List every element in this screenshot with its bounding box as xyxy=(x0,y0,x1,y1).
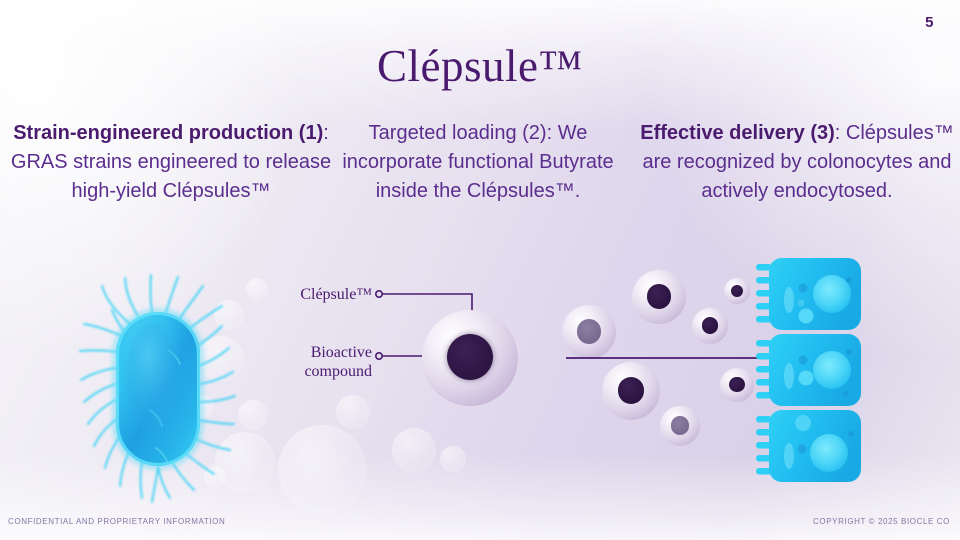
page-title: Clépsule™ xyxy=(0,44,960,89)
decor-bubble xyxy=(246,278,268,300)
decor-bubble xyxy=(440,446,466,472)
colonocyte-icon xyxy=(756,256,874,486)
rod-shaped-bacterium-illustration xyxy=(72,272,244,504)
caption-lead: Effective delivery (3) xyxy=(640,122,835,144)
clepsule-particle-main xyxy=(422,310,518,406)
caption-effective-delivery: Effective delivery (3): Clépsules™ are r… xyxy=(638,119,956,207)
colonocyte-cell xyxy=(756,410,861,482)
caption-lead: Targeted loading (2) xyxy=(369,122,547,144)
colonocyte-cell xyxy=(756,334,861,406)
colonocyte-epithelium xyxy=(756,256,874,486)
caption-targeted-loading: Targeted loading (2): We incorporate fun… xyxy=(336,119,620,207)
caption-separator: : xyxy=(835,122,846,144)
colonocyte-cell xyxy=(756,258,861,330)
caption-strain-engineered-production: Strain-engineered production (1): GRAS s… xyxy=(6,119,336,207)
caption-lead: Strain-engineered production (1) xyxy=(13,122,323,144)
caption-separator: : xyxy=(323,122,329,144)
slide-canvas: 5 Clépsule™ Strain-engineered production… xyxy=(0,0,960,540)
footer-confidentiality-notice: CONFIDENTIAL AND PROPRIETARY INFORMATION xyxy=(8,517,225,526)
footer-copyright: COPYRIGHT © 2025 BIOCLE CO xyxy=(813,517,950,526)
decor-bubble xyxy=(392,428,436,472)
bioactive-compound-core xyxy=(447,334,493,380)
caption-separator: : xyxy=(547,122,558,144)
bacterium-icon xyxy=(72,272,244,504)
page-number: 5 xyxy=(925,14,934,31)
decor-bubble xyxy=(278,425,366,513)
caption-body: GRAS strains engineered to release high-… xyxy=(11,151,331,202)
